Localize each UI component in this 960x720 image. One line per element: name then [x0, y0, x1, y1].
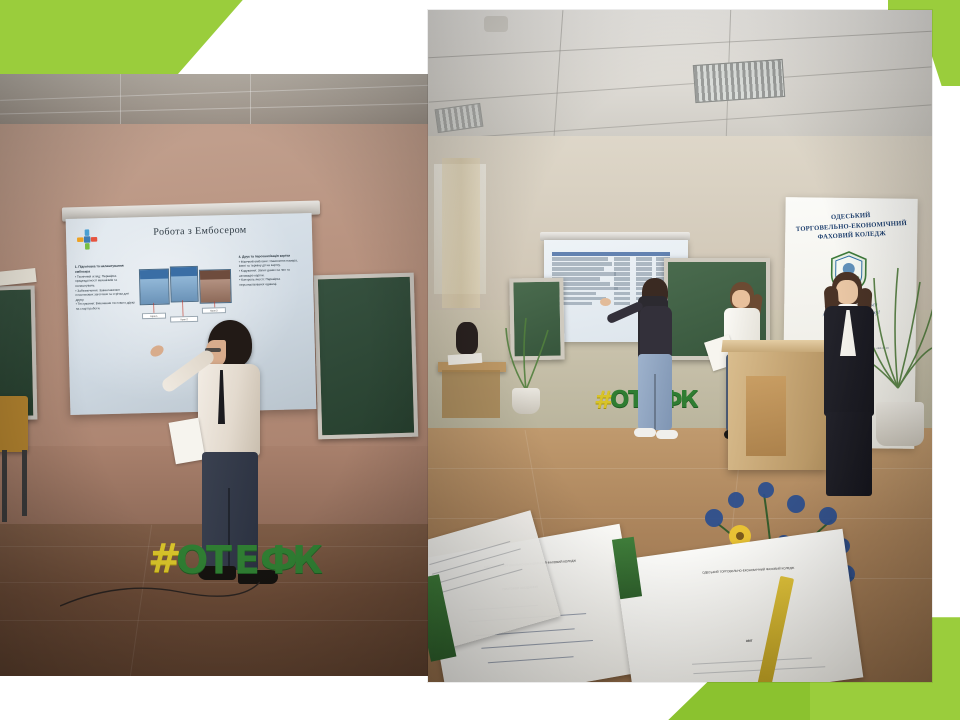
podium-front-panel	[746, 376, 786, 456]
left-potted-plant	[500, 294, 552, 414]
floor-cable	[60, 572, 260, 612]
slide-left-item: • Технічний огляд: Перевірка працездатно…	[75, 273, 137, 288]
slide-left-item: • Тестування: Виконання тестового друку …	[76, 301, 138, 312]
person-a-shoe	[634, 428, 656, 437]
ceiling-fixture	[484, 16, 508, 32]
person-a-shoe	[656, 430, 678, 439]
slide-logo-icon	[76, 228, 99, 251]
left-blackboard-main	[314, 273, 419, 440]
person-b-face	[732, 290, 750, 308]
left-chair-leg	[22, 450, 27, 516]
slide-left-item: • Забезпечення: Завантаження пластикових…	[75, 287, 137, 302]
presenter-at-screen	[624, 278, 690, 454]
plant-pot	[512, 388, 540, 414]
person-a-hand	[600, 298, 611, 306]
person-c-face	[836, 280, 858, 304]
slide-left-heading: 1. Підготовка та налаштування ембосера	[75, 264, 124, 274]
right-photo: ОДЕСЬКИЙ ТОРГОВЕЛЬНО-ЕКОНОМІЧНИЙ ФАХОВИЙ…	[428, 10, 932, 682]
document-heading: ОДЕСЬКИЙ ТОРГОВЕЛЬНО-ЕКОНОМІЧНИЙ ФАХОВИЙ…	[673, 564, 823, 576]
person-a-top	[640, 306, 672, 356]
slide-left-column: 1. Підготовка та налаштування ембосера •…	[75, 263, 138, 311]
left-chair	[0, 396, 28, 452]
right-curtain	[442, 158, 480, 308]
slide-right-item: • Контроль якості: Перевірка персоналізо…	[239, 277, 305, 288]
collage-canvas: Робота з Ембосером 1. Підготовка та нала…	[0, 0, 960, 720]
seated-person-head	[456, 322, 478, 354]
left-chair-leg	[2, 450, 7, 522]
ceiling-vent	[693, 59, 785, 103]
foam-letter: К	[292, 538, 322, 582]
left-photo: Робота з Ембосером 1. Підготовка та нала…	[0, 74, 448, 676]
presenter-shirt	[198, 364, 260, 456]
slide-right-column: 4. Друк та персоналізація картки • Фізич…	[239, 253, 306, 287]
right-desk-body	[442, 370, 500, 418]
left-ceiling	[0, 74, 448, 126]
